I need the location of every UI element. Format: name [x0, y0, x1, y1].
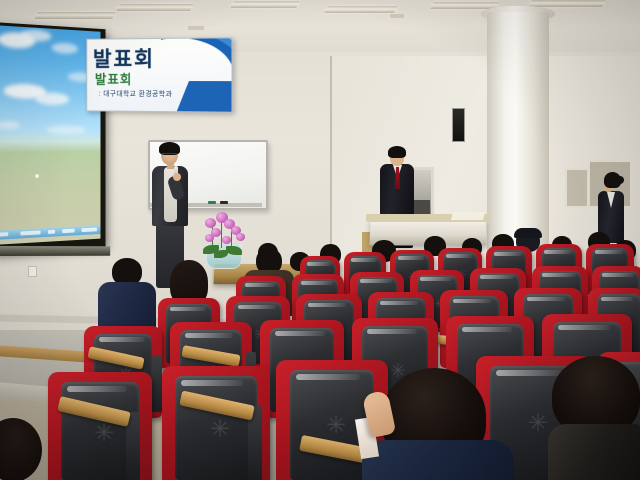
notice-panel	[565, 168, 589, 208]
event-banner: 발표회 발표회 : 대구대학교 환경공학과	[86, 37, 232, 112]
whiteboard-marker	[208, 201, 216, 204]
presenter-hand	[173, 173, 181, 181]
ceiling-vent	[188, 26, 204, 30]
armrest-post	[152, 356, 162, 412]
wall-outlet	[28, 266, 37, 277]
wall-speaker	[452, 108, 465, 142]
ceiling-light	[230, 1, 299, 8]
man-in-suit-hair	[388, 146, 406, 158]
ceiling-light	[116, 4, 193, 11]
banner-title-small: 발표회	[95, 69, 133, 88]
slide-detail	[35, 174, 39, 178]
presenter-glasses	[162, 153, 177, 158]
banner-subtitle: : 대구대학교 환경공학과	[99, 89, 173, 99]
lectern-papers	[451, 212, 485, 220]
ceiling-light	[34, 12, 115, 19]
screen-bottom-bar	[0, 246, 110, 256]
ceiling-vent	[390, 14, 404, 18]
standing-woman-hair-bun	[616, 176, 624, 184]
whiteboard-marker	[220, 201, 228, 204]
auditorium-photo: 발표회 발표회 : 대구대학교 환경공학과	[0, 0, 640, 480]
projected-taskbar	[0, 225, 100, 239]
ceiling-light	[528, 0, 605, 7]
audience-cap	[514, 228, 542, 238]
ceiling-light	[324, 6, 397, 13]
